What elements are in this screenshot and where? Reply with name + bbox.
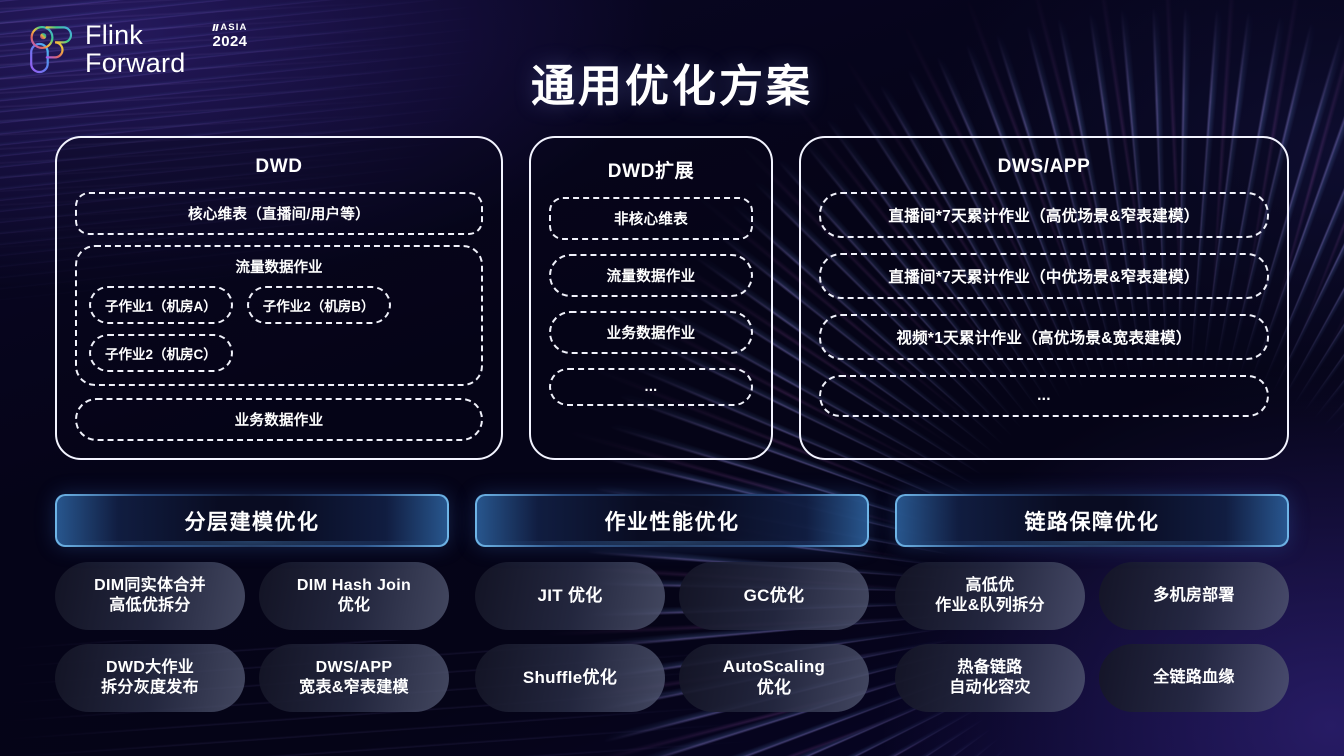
brand-wordmark: Flink Forward ASIA 2024 xyxy=(85,22,247,78)
brand-badge-region: ASIA xyxy=(220,23,247,33)
brand-line-2: Forward xyxy=(85,50,185,78)
optimization-items-reliability: 高低优 作业&队列拆分 多机房部署 热备链路 自动化容灾 全链路血缘 xyxy=(895,562,1289,712)
optimization-item[interactable]: 多机房部署 xyxy=(1099,562,1289,630)
flink-squirrel-logo-icon xyxy=(28,24,74,74)
optimization-heading-modeling: 分层建模优化 xyxy=(55,494,449,547)
optimization-item[interactable]: 热备链路 自动化容灾 xyxy=(895,644,1085,712)
brand-badge-region-row: ASIA xyxy=(212,23,247,33)
panel-dwd-subjob: 子作业2（机房C） xyxy=(89,334,233,372)
panel-dwd-core-dim-table: 核心维表（直播间/用户等） xyxy=(75,192,483,235)
panel-ext-item-ellipsis: ... xyxy=(549,368,753,406)
panel-dws-app-title: DWS/APP xyxy=(819,156,1269,178)
panel-dws-app-list: 直播间*7天累计作业（高优场景&窄表建模） 直播间*7天累计作业（中优场景&窄表… xyxy=(819,192,1269,417)
optimization-item[interactable]: Shuffle优化 xyxy=(475,644,665,712)
panel-ext-item: 流量数据作业 xyxy=(549,254,753,297)
optimization-items-modeling: DIM同实体合并 高低优拆分 DIM Hash Join 优化 DWD大作业 拆… xyxy=(55,562,449,712)
panel-dwd-subjob-row-2: 子作业2（机房C） xyxy=(89,334,469,372)
optimization-item[interactable]: 全链路血缘 xyxy=(1099,644,1289,712)
panel-dwd-traffic-group-title: 流量数据作业 xyxy=(89,256,469,277)
optimization-item[interactable]: 高低优 作业&队列拆分 xyxy=(895,562,1085,630)
brand-line-1: Flink xyxy=(85,22,185,50)
optimization-columns-row: 分层建模优化 DIM同实体合并 高低优拆分 DIM Hash Join 优化 D… xyxy=(55,494,1289,712)
optimization-item[interactable]: GC优化 xyxy=(679,562,869,630)
optimization-item[interactable]: DIM同实体合并 高低优拆分 xyxy=(55,562,245,630)
panel-dws-item: 直播间*7天累计作业（中优场景&窄表建模） xyxy=(819,253,1269,299)
optimization-item[interactable]: JIT 优化 xyxy=(475,562,665,630)
brand-event-badge: ASIA 2024 xyxy=(212,23,247,49)
panel-ext-item: 业务数据作业 xyxy=(549,311,753,354)
optimization-item[interactable]: DWS/APP 宽表&窄表建模 xyxy=(259,644,449,712)
optimization-items-performance: JIT 优化 GC优化 Shuffle优化 AutoScaling 优化 xyxy=(475,562,869,712)
panel-ext-noncore-dim-table: 非核心维表 xyxy=(549,197,753,240)
panel-dwd-traffic-group: 流量数据作业 子作业1（机房A） 子作业2（机房B） 子作业2（机房C） xyxy=(75,245,483,386)
optimization-item[interactable]: DWD大作业 拆分灰度发布 xyxy=(55,644,245,712)
optimization-heading-performance: 作业性能优化 xyxy=(475,494,869,547)
optimization-column-performance: 作业性能优化 JIT 优化 GC优化 Shuffle优化 AutoScaling… xyxy=(475,494,869,712)
slide-root: Flink Forward ASIA 2024 通用优化方案 DWD 核心维表（… xyxy=(0,0,1344,756)
layer-panels-row: DWD 核心维表（直播间/用户等） 流量数据作业 子作业1（机房A） 子作业2（… xyxy=(55,136,1289,460)
panel-dwd-subjob: 子作业2（机房B） xyxy=(247,286,391,324)
brand-badge-year: 2024 xyxy=(212,34,247,49)
optimization-column-modeling: 分层建模优化 DIM同实体合并 高低优拆分 DIM Hash Join 优化 D… xyxy=(55,494,449,712)
panel-dwd-extension-title: DWD扩展 xyxy=(549,156,753,183)
brand-logo: Flink Forward ASIA 2024 xyxy=(28,22,247,78)
optimization-heading-reliability: 链路保障优化 xyxy=(895,494,1289,547)
panel-dwd-extension-list: 非核心维表 流量数据作业 业务数据作业 ... xyxy=(549,197,753,406)
optimization-column-reliability: 链路保障优化 高低优 作业&队列拆分 多机房部署 热备链路 自动化容灾 全链路血… xyxy=(895,494,1289,712)
badge-bars-icon xyxy=(213,24,218,31)
panel-dws-item-ellipsis: ... xyxy=(819,375,1269,417)
panel-dws-item: 直播间*7天累计作业（高优场景&窄表建模） xyxy=(819,192,1269,238)
panel-dws-item: 视频*1天累计作业（高优场景&宽表建模） xyxy=(819,314,1269,360)
panel-dwd-business-job: 业务数据作业 xyxy=(75,398,483,441)
optimization-item[interactable]: DIM Hash Join 优化 xyxy=(259,562,449,630)
optimization-item[interactable]: AutoScaling 优化 xyxy=(679,644,869,712)
panel-dwd: DWD 核心维表（直播间/用户等） 流量数据作业 子作业1（机房A） 子作业2（… xyxy=(55,136,503,460)
panel-dwd-subjob: 子作业1（机房A） xyxy=(89,286,233,324)
panel-dwd-title: DWD xyxy=(75,156,483,178)
panel-dwd-extension: DWD扩展 非核心维表 流量数据作业 业务数据作业 ... xyxy=(529,136,773,460)
panel-dws-app: DWS/APP 直播间*7天累计作业（高优场景&窄表建模） 直播间*7天累计作业… xyxy=(799,136,1289,460)
panel-dwd-subjob-row-1: 子作业1（机房A） 子作业2（机房B） xyxy=(89,286,469,324)
